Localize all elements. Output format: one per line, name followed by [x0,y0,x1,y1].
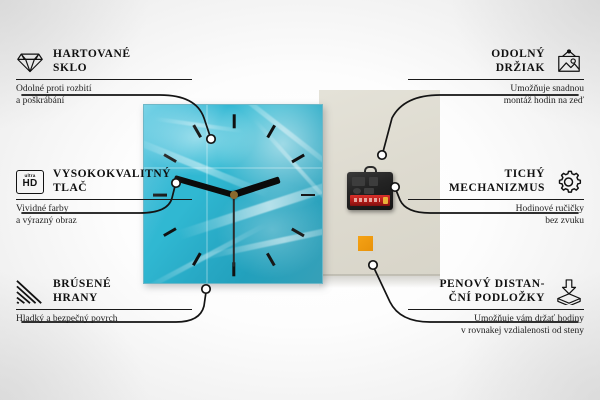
feature-title-line2: MECHANIZMUS [449,182,545,196]
feature-desc-line2: bez zvuku [408,216,584,228]
picture-frame-icon [554,49,584,75]
feature-head: ultra HD VYSOKOKVALITNÝ TLAČ [16,168,192,195]
feature-divider [408,309,584,310]
feature-desc-line2: montáž hodin na zeď [408,96,584,108]
feature-head: ODOLNÝ DRŽIAK [408,48,584,75]
feature-desc-line2: a poškrábání [16,96,192,108]
feature-description: Hladký a bezpečný povrch [16,314,192,326]
feature-title-line1: HARTOVANÉ [53,48,131,62]
feature-divider [16,199,192,200]
feature-desc-line1: Hladký a bezpečný povrch [16,314,192,326]
feature-description: Umožňuje vám držať hodiny v rovnakej vzd… [408,314,584,337]
gear-icon [554,169,584,195]
feature-head: HARTOVANÉ SKLO [16,48,192,75]
feature-head: PENOVÝ DISTAN- ČNÍ PODLOŽKY [408,278,584,305]
feature-title: BRÚSENÉ HRANY [53,278,111,305]
feature-title-line1: PENOVÝ DISTAN- [439,278,545,292]
feature-head: BRÚSENÉ HRANY [16,278,192,305]
feature-head: TICHÝ MECHANIZMUS [408,168,584,195]
feature-description: Umožňuje snadnou montáž hodin na zeď [408,84,584,107]
feature-desc-line1: Odolné proti rozbití [16,84,192,96]
feature-title: PENOVÝ DISTAN- ČNÍ PODLOŽKY [439,278,545,305]
feature-divider [16,309,192,310]
feature-desc-line2: v rovnakej vzdialenosti od steny [408,326,584,338]
feature-title: VYSOKOKVALITNÝ TLAČ [53,168,171,195]
connector-dot-foam [369,261,377,269]
feature-divider [408,199,584,200]
feature-divider [16,79,192,80]
feature-description: Hodinové ručičky bez zvuku [408,204,584,227]
feature-desc-line2: a výrazný obraz [16,216,192,228]
feature-silent-mechanism: TICHÝ MECHANIZMUS Hodinové ručičky bez z… [408,168,584,227]
feature-title-line1: TICHÝ [449,168,545,182]
feature-title-line2: ČNÍ PODLOŽKY [439,292,545,306]
feature-hd-print: ultra HD VYSOKOKVALITNÝ TLAČ Vividné far… [16,168,192,227]
connector-dot-holder [378,151,386,159]
feature-title-line2: HRANY [53,292,111,306]
ultra-hd-large-label: HD [22,179,37,189]
feature-title-line1: ODOLNÝ [491,48,545,62]
connector-dot-edges [202,285,210,293]
feature-title: ODOLNÝ DRŽIAK [491,48,545,75]
feature-title-line2: TLAČ [53,182,171,196]
feature-title-line2: SKLO [53,62,131,76]
feature-description: Odolné proti rozbití a poškrábání [16,84,192,107]
ultra-hd-icon: ultra HD [16,170,44,194]
connector-dot-glass [207,135,215,143]
feature-desc-line1: Umožňuje vám držať hodiny [408,314,584,326]
feature-polished-edges: BRÚSENÉ HRANY Hladký a bezpečný povrch [16,278,192,326]
feature-title: HARTOVANÉ SKLO [53,48,131,75]
diamond-icon [16,49,44,75]
feature-foam-spacers: PENOVÝ DISTAN- ČNÍ PODLOŽKY Umožňuje vám… [408,278,584,337]
feature-title-line1: VYSOKOKVALITNÝ [53,168,171,182]
feature-title-line1: BRÚSENÉ [53,278,111,292]
feature-desc-line1: Hodinové ručičky [408,204,584,216]
feature-desc-line1: Vividné farby [16,204,192,216]
feature-title: TICHÝ MECHANIZMUS [449,168,545,195]
feature-durable-holder: ODOLNÝ DRŽIAK Umožňuje snadnou montáž ho… [408,48,584,107]
feature-tempered-glass: HARTOVANÉ SKLO Odolné proti rozbití a po… [16,48,192,107]
feature-title-line2: DRŽIAK [491,62,545,76]
connector-dot-mechanism [391,183,399,191]
press-layers-icon [554,279,584,305]
feature-description: Vividné farby a výrazný obraz [16,204,192,227]
feature-divider [408,79,584,80]
feature-desc-line1: Umožňuje snadnou [408,84,584,96]
diagonal-stripes-icon [16,279,44,305]
infographic-canvas: HARTOVANÉ SKLO Odolné proti rozbití a po… [0,0,600,400]
